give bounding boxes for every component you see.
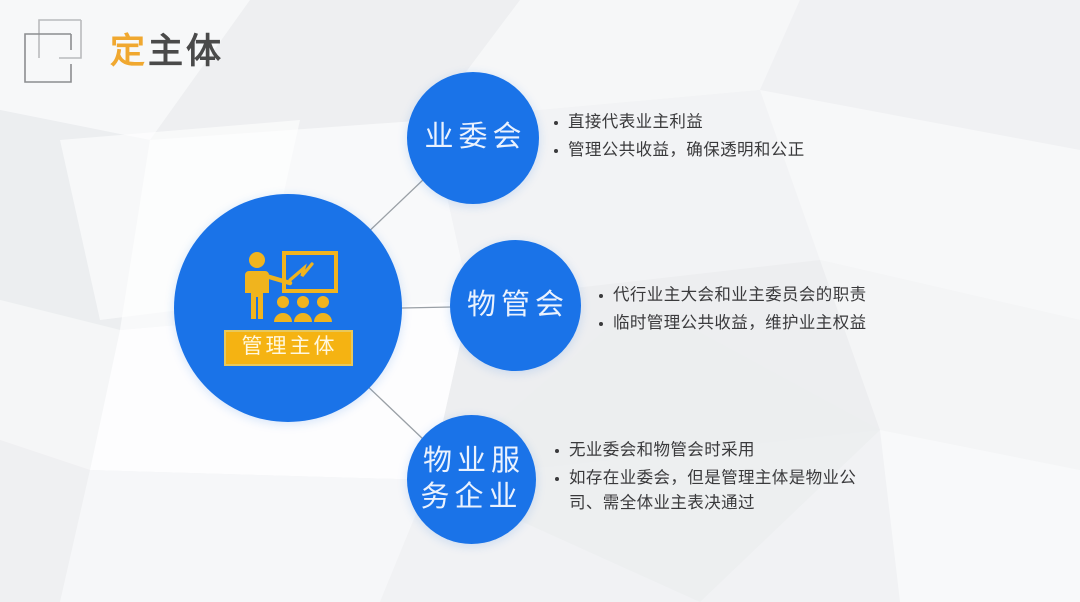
node-label: 业委会: [419, 120, 526, 155]
slide-canvas: 定主体: [0, 0, 1080, 602]
bullet-group-property-service-enterprise: 无业委会和物管会时采用 如存在业委会，但是管理主体是物业公司、需全体业主表决通过: [554, 438, 876, 519]
node-circle-property-service-enterprise[interactable]: 物业服 务企业: [407, 415, 536, 544]
bullet-item: 如存在业委会，但是管理主体是物业公司、需全体业主表决通过: [554, 466, 876, 517]
node-circle-property-management-committee[interactable]: 物管会: [450, 240, 581, 371]
bullet-group-owners-committee: 直接代表业主利益 管理公共收益，确保透明和公正: [553, 110, 883, 165]
hub-badge-label: 管理主体: [224, 330, 353, 366]
bullet-item: 临时管理公共收益，维护业主权益: [598, 311, 928, 337]
node-label: 物管会: [462, 288, 569, 323]
bullet-item: 无业委会和物管会时采用: [554, 438, 876, 464]
node-label: 物业服 务企业: [418, 444, 525, 515]
bullet-item: 管理公共收益，确保透明和公正: [553, 138, 883, 164]
bullet-item: 直接代表业主利益: [553, 110, 883, 136]
bullet-group-property-management-committee: 代行业主大会和业主委员会的职责 临时管理公共收益，维护业主权益: [598, 283, 928, 338]
hub-node-management-subject[interactable]: 管理主体: [174, 194, 402, 422]
bullet-item: 代行业主大会和业主委员会的职责: [598, 283, 928, 309]
presenter-board-audience-icon: [238, 250, 342, 326]
node-circle-owners-committee[interactable]: 业委会: [407, 72, 539, 204]
